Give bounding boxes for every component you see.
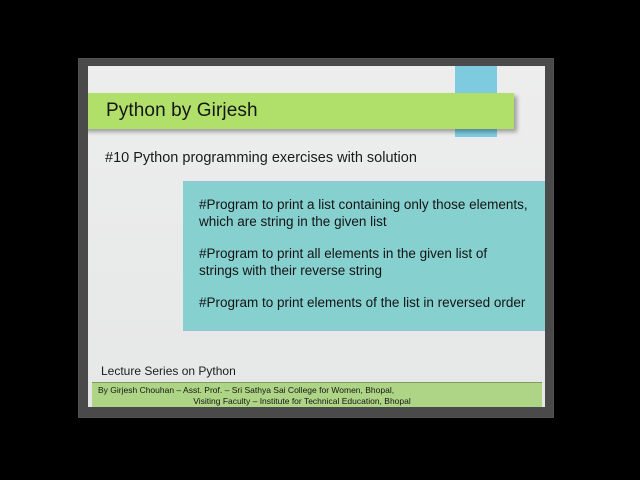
content-box: #Program to print a list containing only… bbox=[183, 181, 545, 331]
slide-title: Python by Girjesh bbox=[106, 100, 258, 122]
slide-subtitle: #10 Python programming exercises with so… bbox=[105, 150, 417, 166]
footer-credit-line-1: By Girjesh Chouhan – Asst. Prof. – Sri S… bbox=[92, 385, 542, 396]
content-bullet: #Program to print a list containing only… bbox=[199, 196, 529, 230]
video-player-stage: Python by Girjesh #10 Python programming… bbox=[0, 0, 640, 480]
content-bullet: #Program to print elements of the list i… bbox=[199, 294, 529, 311]
presentation-frame: Python by Girjesh #10 Python programming… bbox=[78, 58, 554, 418]
lecture-series-label: Lecture Series on Python bbox=[101, 364, 236, 378]
slide-footer-band: By Girjesh Chouhan – Asst. Prof. – Sri S… bbox=[92, 382, 542, 407]
footer-credit-line-2: Visiting Faculty – Institute for Technic… bbox=[92, 396, 542, 407]
slide-title-banner: Python by Girjesh bbox=[88, 93, 514, 129]
slide-canvas: Python by Girjesh #10 Python programming… bbox=[88, 66, 545, 407]
content-bullet: #Program to print all elements in the gi… bbox=[199, 245, 529, 279]
